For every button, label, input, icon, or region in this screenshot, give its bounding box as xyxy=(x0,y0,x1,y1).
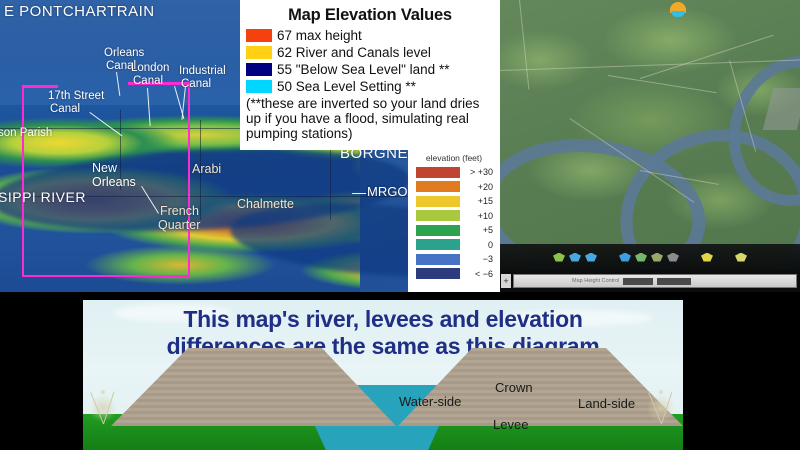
label-french-quarter-line1: French xyxy=(160,205,199,218)
elevation-scale-row: > +30 xyxy=(412,165,496,180)
label-water-side: Water-side xyxy=(399,394,461,409)
tool-icon-yellow-1[interactable] xyxy=(701,253,713,262)
elevation-swatch-plus20 xyxy=(416,181,460,192)
label-industrial-canal-line1: Industrial xyxy=(179,65,226,77)
elevation-swatch-minus6 xyxy=(416,268,460,279)
legend-row-river-canals: 62 River and Canals level xyxy=(246,45,494,60)
label-new-orleans-line2: Orleans xyxy=(92,176,136,189)
tool-icon-green-1[interactable] xyxy=(553,253,565,262)
elevation-scale-row: +10 xyxy=(412,209,496,224)
elevation-scale-row: 0 xyxy=(412,238,496,253)
status-label: Map Height Control xyxy=(572,278,619,284)
label-crown: Crown xyxy=(495,380,533,395)
elevation-label-plus20: +20 xyxy=(460,182,496,192)
screenshot-root: E PONTCHARTRAIN Orleans Canal London Can… xyxy=(0,0,800,450)
game-sun-marker-bottom xyxy=(671,11,685,17)
elevation-label-plus10: +10 xyxy=(460,211,496,221)
label-chalmette: Chalmette xyxy=(237,198,294,211)
city-builder-game-panel: + Map Height Control xyxy=(500,0,800,292)
legend-text-river-canals: 62 River and Canals level xyxy=(277,45,431,60)
elevation-swatch-zero xyxy=(416,239,460,250)
status-strip[interactable]: Map Height Control xyxy=(513,274,797,288)
label-jefferson-parish: son Parish xyxy=(0,127,52,139)
elevation-label-minus3: −3 xyxy=(460,254,496,264)
elevation-scale-row: +5 xyxy=(412,223,496,238)
elevation-label-minus6: < −6 xyxy=(460,269,496,279)
leader-line-mrgo xyxy=(352,193,366,194)
elevation-swatch-minus3 xyxy=(416,254,460,265)
elevation-label-zero: 0 xyxy=(460,240,496,250)
status-expand-button[interactable]: + xyxy=(501,274,511,288)
legend-row-sea-level: 50 Sea Level Setting ** xyxy=(246,79,494,94)
label-london-canal-line2: Canal xyxy=(133,75,163,87)
tool-icon-water[interactable] xyxy=(635,253,647,262)
map-elevation-values-legend: Map Elevation Values 67 max height 62 Ri… xyxy=(240,0,500,150)
elevation-scale-row: < −6 xyxy=(412,267,496,282)
legend-row-max-height: 67 max height xyxy=(246,28,494,43)
label-17th-street-canal-line2: Canal xyxy=(50,103,80,115)
label-levee: Levee xyxy=(493,417,528,432)
tool-icon-yellow-2[interactable] xyxy=(735,253,747,262)
legend-swatch-max-height xyxy=(246,29,272,42)
legend-title: Map Elevation Values xyxy=(246,6,494,25)
game-toolbar[interactable] xyxy=(500,244,800,270)
tool-icon-forest[interactable] xyxy=(651,253,663,262)
elevation-scale-title: elevation (feet) xyxy=(412,153,496,163)
status-block xyxy=(623,278,653,285)
elevation-swatch-plus30 xyxy=(416,167,460,178)
bush-right xyxy=(643,384,679,424)
status-block xyxy=(657,278,691,285)
elevation-scale-row: −3 xyxy=(412,252,496,267)
elevation-scale-row: +15 xyxy=(412,194,496,209)
legend-swatch-river-canals xyxy=(246,46,272,59)
elevation-label-plus30: > +30 xyxy=(460,167,496,177)
levee-title-line-1: This map's river, levees and elevation xyxy=(83,306,683,333)
game-sun-marker-icon[interactable] xyxy=(670,2,686,18)
label-london-canal-line1: London xyxy=(131,62,169,74)
label-french-quarter-line2: Quarter xyxy=(158,219,200,232)
bush-left xyxy=(85,384,121,424)
legend-footnote: (**these are inverted so your land dries… xyxy=(246,96,494,141)
legend-text-max-height: 67 max height xyxy=(277,28,362,43)
elevation-scale-row: +20 xyxy=(412,180,496,195)
label-new-orleans-line1: New xyxy=(92,162,117,175)
elevation-label-plus5: +5 xyxy=(460,225,496,235)
elevation-scale-legend: elevation (feet) > +30 +20 +15 +10 +5 0 … xyxy=(408,150,500,292)
levee-cross-section-panel: This map's river, levees and elevation d… xyxy=(83,300,683,450)
selection-box-edge xyxy=(22,85,58,88)
tool-icon-blue-1[interactable] xyxy=(569,253,581,262)
elevation-swatch-plus10 xyxy=(416,210,460,221)
legend-swatch-below-sea-level xyxy=(246,63,272,76)
levee-mound-right xyxy=(398,348,683,426)
label-17th-street-canal-line1: 17th Street xyxy=(48,90,104,102)
elevation-swatch-plus15 xyxy=(416,196,460,207)
tool-icon-blue-3[interactable] xyxy=(619,253,631,262)
elevation-swatch-plus5 xyxy=(416,225,460,236)
elevation-label-plus15: +15 xyxy=(460,196,496,206)
label-lake-pontchartrain: E PONTCHARTRAIN xyxy=(4,4,155,20)
tool-icon-grey[interactable] xyxy=(667,253,679,262)
levee-mound-left xyxy=(111,348,396,426)
label-orleans-canal-line1: Orleans xyxy=(104,47,144,59)
legend-swatch-sea-level xyxy=(246,80,272,93)
legend-text-sea-level: 50 Sea Level Setting ** xyxy=(277,79,416,94)
game-status-bar: + Map Height Control xyxy=(500,270,800,292)
legend-row-below-sea-level: 55 "Below Sea Level" land ** xyxy=(246,62,494,77)
legend-text-below-sea-level: 55 "Below Sea Level" land ** xyxy=(277,62,449,77)
label-mrgo: MRGO xyxy=(367,185,407,199)
tool-icon-blue-2[interactable] xyxy=(585,253,597,262)
label-mississippi-river: SIPPI RIVER xyxy=(0,190,86,205)
label-arabi: Arabi xyxy=(192,163,221,176)
label-land-side: Land-side xyxy=(578,396,635,411)
